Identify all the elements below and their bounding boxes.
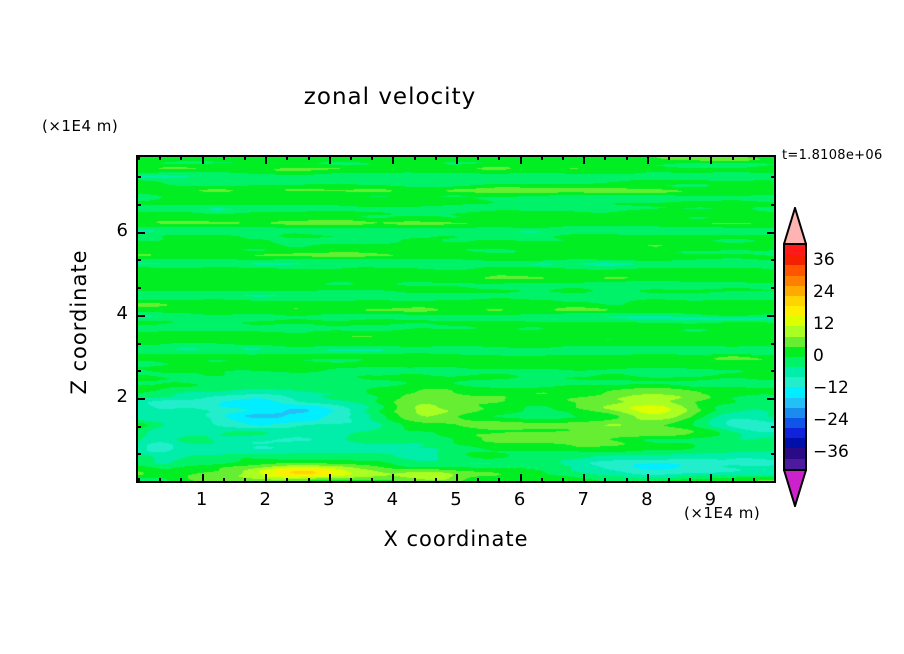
colorbar-band — [785, 326, 805, 336]
x-tick-label: 5 — [436, 489, 476, 510]
colorbar-arrow-top-icon — [783, 207, 807, 245]
axis-tick — [689, 478, 691, 483]
axis-tick — [668, 478, 670, 483]
axis-tick — [350, 155, 352, 160]
axis-tick — [136, 176, 141, 178]
axis-tick — [286, 478, 288, 483]
axis-tick — [265, 155, 267, 164]
x-tick-label: 2 — [245, 489, 285, 510]
colorbar-band — [785, 306, 805, 316]
axis-tick — [456, 474, 458, 483]
axis-tick — [202, 474, 204, 483]
colorbar-band — [785, 367, 805, 377]
colorbar-band — [785, 387, 805, 397]
x-tick-label: 3 — [309, 489, 349, 510]
axis-tick — [329, 155, 331, 164]
y-tick-label: 2 — [88, 386, 128, 407]
axis-tick — [771, 204, 776, 206]
colorbar-band — [785, 245, 805, 255]
axis-tick — [771, 343, 776, 345]
x-tick-label: 4 — [372, 489, 412, 510]
axis-tick — [767, 315, 776, 317]
axis-tick — [541, 478, 543, 483]
axis-tick — [520, 474, 522, 483]
axis-tick — [136, 232, 145, 234]
axis-tick — [136, 370, 141, 372]
axis-tick — [136, 453, 141, 455]
colorbar-band — [785, 459, 805, 469]
axis-tick — [202, 155, 204, 164]
colorbar-band — [785, 337, 805, 347]
axis-tick — [604, 478, 606, 483]
axis-tick — [136, 398, 145, 400]
colorbar-tick-label: 24 — [813, 282, 835, 302]
colorbar-tick-label: −12 — [813, 378, 849, 398]
axis-tick — [371, 155, 373, 160]
axis-tick — [392, 474, 394, 483]
colorbar: 3624120−12−24−36 — [783, 207, 807, 507]
colorbar-band — [785, 448, 805, 458]
axis-tick — [138, 155, 140, 160]
y-tick-label: 4 — [88, 303, 128, 324]
colorbar-tick-label: 12 — [813, 314, 835, 334]
colorbar-band — [785, 357, 805, 367]
axis-tick — [286, 155, 288, 160]
axis-tick — [136, 204, 141, 206]
axis-tick — [710, 474, 712, 483]
axis-tick — [541, 155, 543, 160]
colorbar-band — [785, 438, 805, 448]
x-tick-label: 7 — [563, 489, 603, 510]
page-title: zonal velocity — [0, 84, 780, 110]
axis-tick — [308, 478, 310, 483]
y-axis-title: Z coordinate — [67, 222, 91, 422]
axis-tick — [159, 478, 161, 483]
colorbar-band — [785, 265, 805, 275]
colorbar-band — [785, 286, 805, 296]
axis-tick — [562, 478, 564, 483]
axis-tick — [753, 155, 755, 160]
axis-tick — [244, 478, 246, 483]
colorbar-band — [785, 428, 805, 438]
x-axis-title: X coordinate — [136, 527, 776, 551]
axis-tick — [136, 481, 141, 483]
axis-tick — [136, 259, 141, 261]
axis-tick — [626, 478, 628, 483]
axis-ticks — [136, 155, 776, 483]
y-tick-label: 6 — [88, 220, 128, 241]
colorbar-arrow-bottom-icon — [783, 469, 807, 507]
axis-tick — [265, 474, 267, 483]
colorbar-band — [785, 418, 805, 428]
colorbar-band — [785, 408, 805, 418]
axis-tick — [350, 478, 352, 483]
axis-tick — [732, 155, 734, 160]
axis-tick — [771, 426, 776, 428]
x-axis-unit-label: (×1E4 m) — [684, 504, 760, 522]
axis-tick — [329, 474, 331, 483]
axis-tick — [689, 155, 691, 160]
axis-tick — [520, 155, 522, 164]
axis-tick — [477, 155, 479, 160]
x-tick-label: 6 — [500, 489, 540, 510]
colorbar-band — [785, 347, 805, 357]
axis-tick — [244, 155, 246, 160]
axis-tick — [562, 155, 564, 160]
colorbar-tick-label: −24 — [813, 410, 849, 430]
axis-tick — [647, 474, 649, 483]
x-tick-label: 8 — [627, 489, 667, 510]
axis-tick — [392, 155, 394, 164]
colorbar-band — [785, 398, 805, 408]
axis-tick — [604, 155, 606, 160]
colorbar-band — [785, 255, 805, 265]
axis-tick — [771, 259, 776, 261]
axis-tick — [371, 478, 373, 483]
axis-tick — [626, 155, 628, 160]
colorbar-band — [785, 316, 805, 326]
axis-tick — [498, 155, 500, 160]
axis-tick — [583, 155, 585, 164]
y-axis-unit-label: (×1E4 m) — [42, 117, 118, 135]
axis-tick — [477, 478, 479, 483]
axis-tick — [771, 370, 776, 372]
axis-tick — [583, 474, 585, 483]
axis-tick — [159, 155, 161, 160]
axis-tick — [308, 155, 310, 160]
axis-tick — [771, 481, 776, 483]
axis-tick — [414, 155, 416, 160]
axis-tick — [771, 176, 776, 178]
axis-tick — [414, 478, 416, 483]
axis-tick — [771, 287, 776, 289]
axis-tick — [456, 155, 458, 164]
axis-tick — [771, 453, 776, 455]
axis-tick — [136, 426, 141, 428]
axis-tick — [732, 478, 734, 483]
colorbar-band — [785, 276, 805, 286]
axis-tick — [180, 155, 182, 160]
axis-tick — [180, 478, 182, 483]
axis-tick — [435, 155, 437, 160]
axis-tick — [774, 155, 776, 160]
axis-tick — [223, 155, 225, 160]
axis-tick — [647, 155, 649, 164]
timestamp-label: t=1.8108e+06 — [782, 148, 883, 163]
axis-tick — [435, 478, 437, 483]
axis-tick — [136, 287, 141, 289]
axis-tick — [668, 155, 670, 160]
axis-tick — [136, 315, 145, 317]
axis-tick — [710, 155, 712, 164]
axis-tick — [767, 232, 776, 234]
axis-tick — [136, 343, 141, 345]
colorbar-band — [785, 296, 805, 306]
x-tick-label: 1 — [182, 489, 222, 510]
colorbar-bands — [783, 243, 807, 471]
axis-tick — [767, 398, 776, 400]
axis-tick — [223, 478, 225, 483]
axis-tick — [498, 478, 500, 483]
colorbar-tick-label: −36 — [813, 442, 849, 462]
colorbar-band — [785, 377, 805, 387]
axis-tick — [753, 478, 755, 483]
colorbar-tick-label: 36 — [813, 250, 835, 270]
colorbar-tick-label: 0 — [813, 346, 824, 366]
